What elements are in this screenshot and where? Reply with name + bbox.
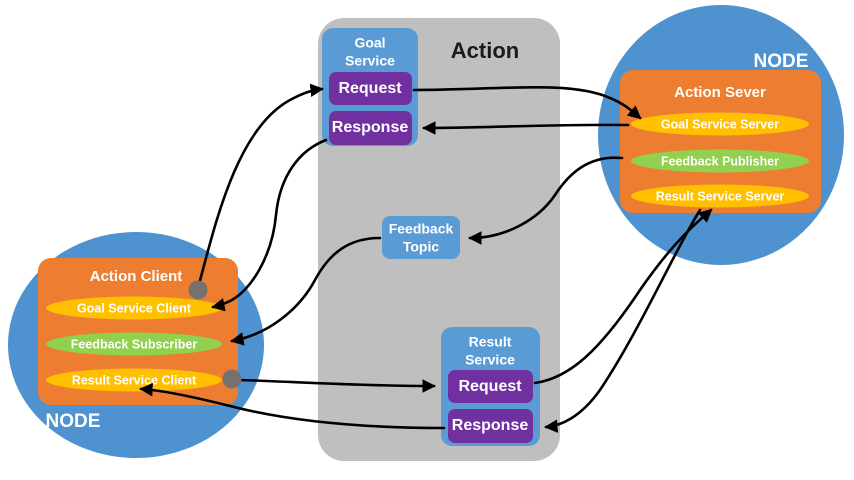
goal-service-title-line1: Goal — [354, 35, 385, 51]
feedback-publisher-label: Feedback Publisher — [661, 154, 779, 168]
result-service-client-label: Result Service Client — [72, 373, 197, 387]
action-client-title: Action Client — [90, 268, 183, 285]
feedback-topic-label-line1: Feedback — [389, 221, 454, 237]
result-service-title-line1: Result — [469, 334, 512, 350]
goal-service-server-label: Goal Service Server — [661, 117, 779, 131]
client-node-label: NODE — [46, 411, 101, 432]
feedback-topic-label-line2: Topic — [403, 239, 440, 255]
goal-service-title-line2: Service — [345, 53, 395, 69]
connector-dot-result-client — [223, 370, 242, 389]
action-server-title: Action Sever — [674, 84, 766, 101]
goal-service-client-label: Goal Service Client — [77, 301, 192, 315]
result-service-request-label: Request — [458, 378, 522, 395]
diagram-svg: Action NODE Action Sever Goal Service Se… — [0, 0, 854, 480]
connector-dot-goal-client — [189, 281, 208, 300]
goal-service-request-label: Request — [338, 80, 402, 97]
result-service-response-label: Response — [452, 417, 529, 434]
result-service-title-line2: Service — [465, 352, 515, 368]
server-node-label: NODE — [754, 51, 809, 72]
feedback-subscriber-label: Feedback Subscriber — [71, 337, 198, 351]
diagram-canvas: Action NODE Action Sever Goal Service Se… — [0, 0, 854, 480]
goal-service-response-label: Response — [332, 119, 409, 136]
result-service-server-label: Result Service Server — [656, 189, 785, 203]
action-group-label: Action — [451, 38, 519, 63]
